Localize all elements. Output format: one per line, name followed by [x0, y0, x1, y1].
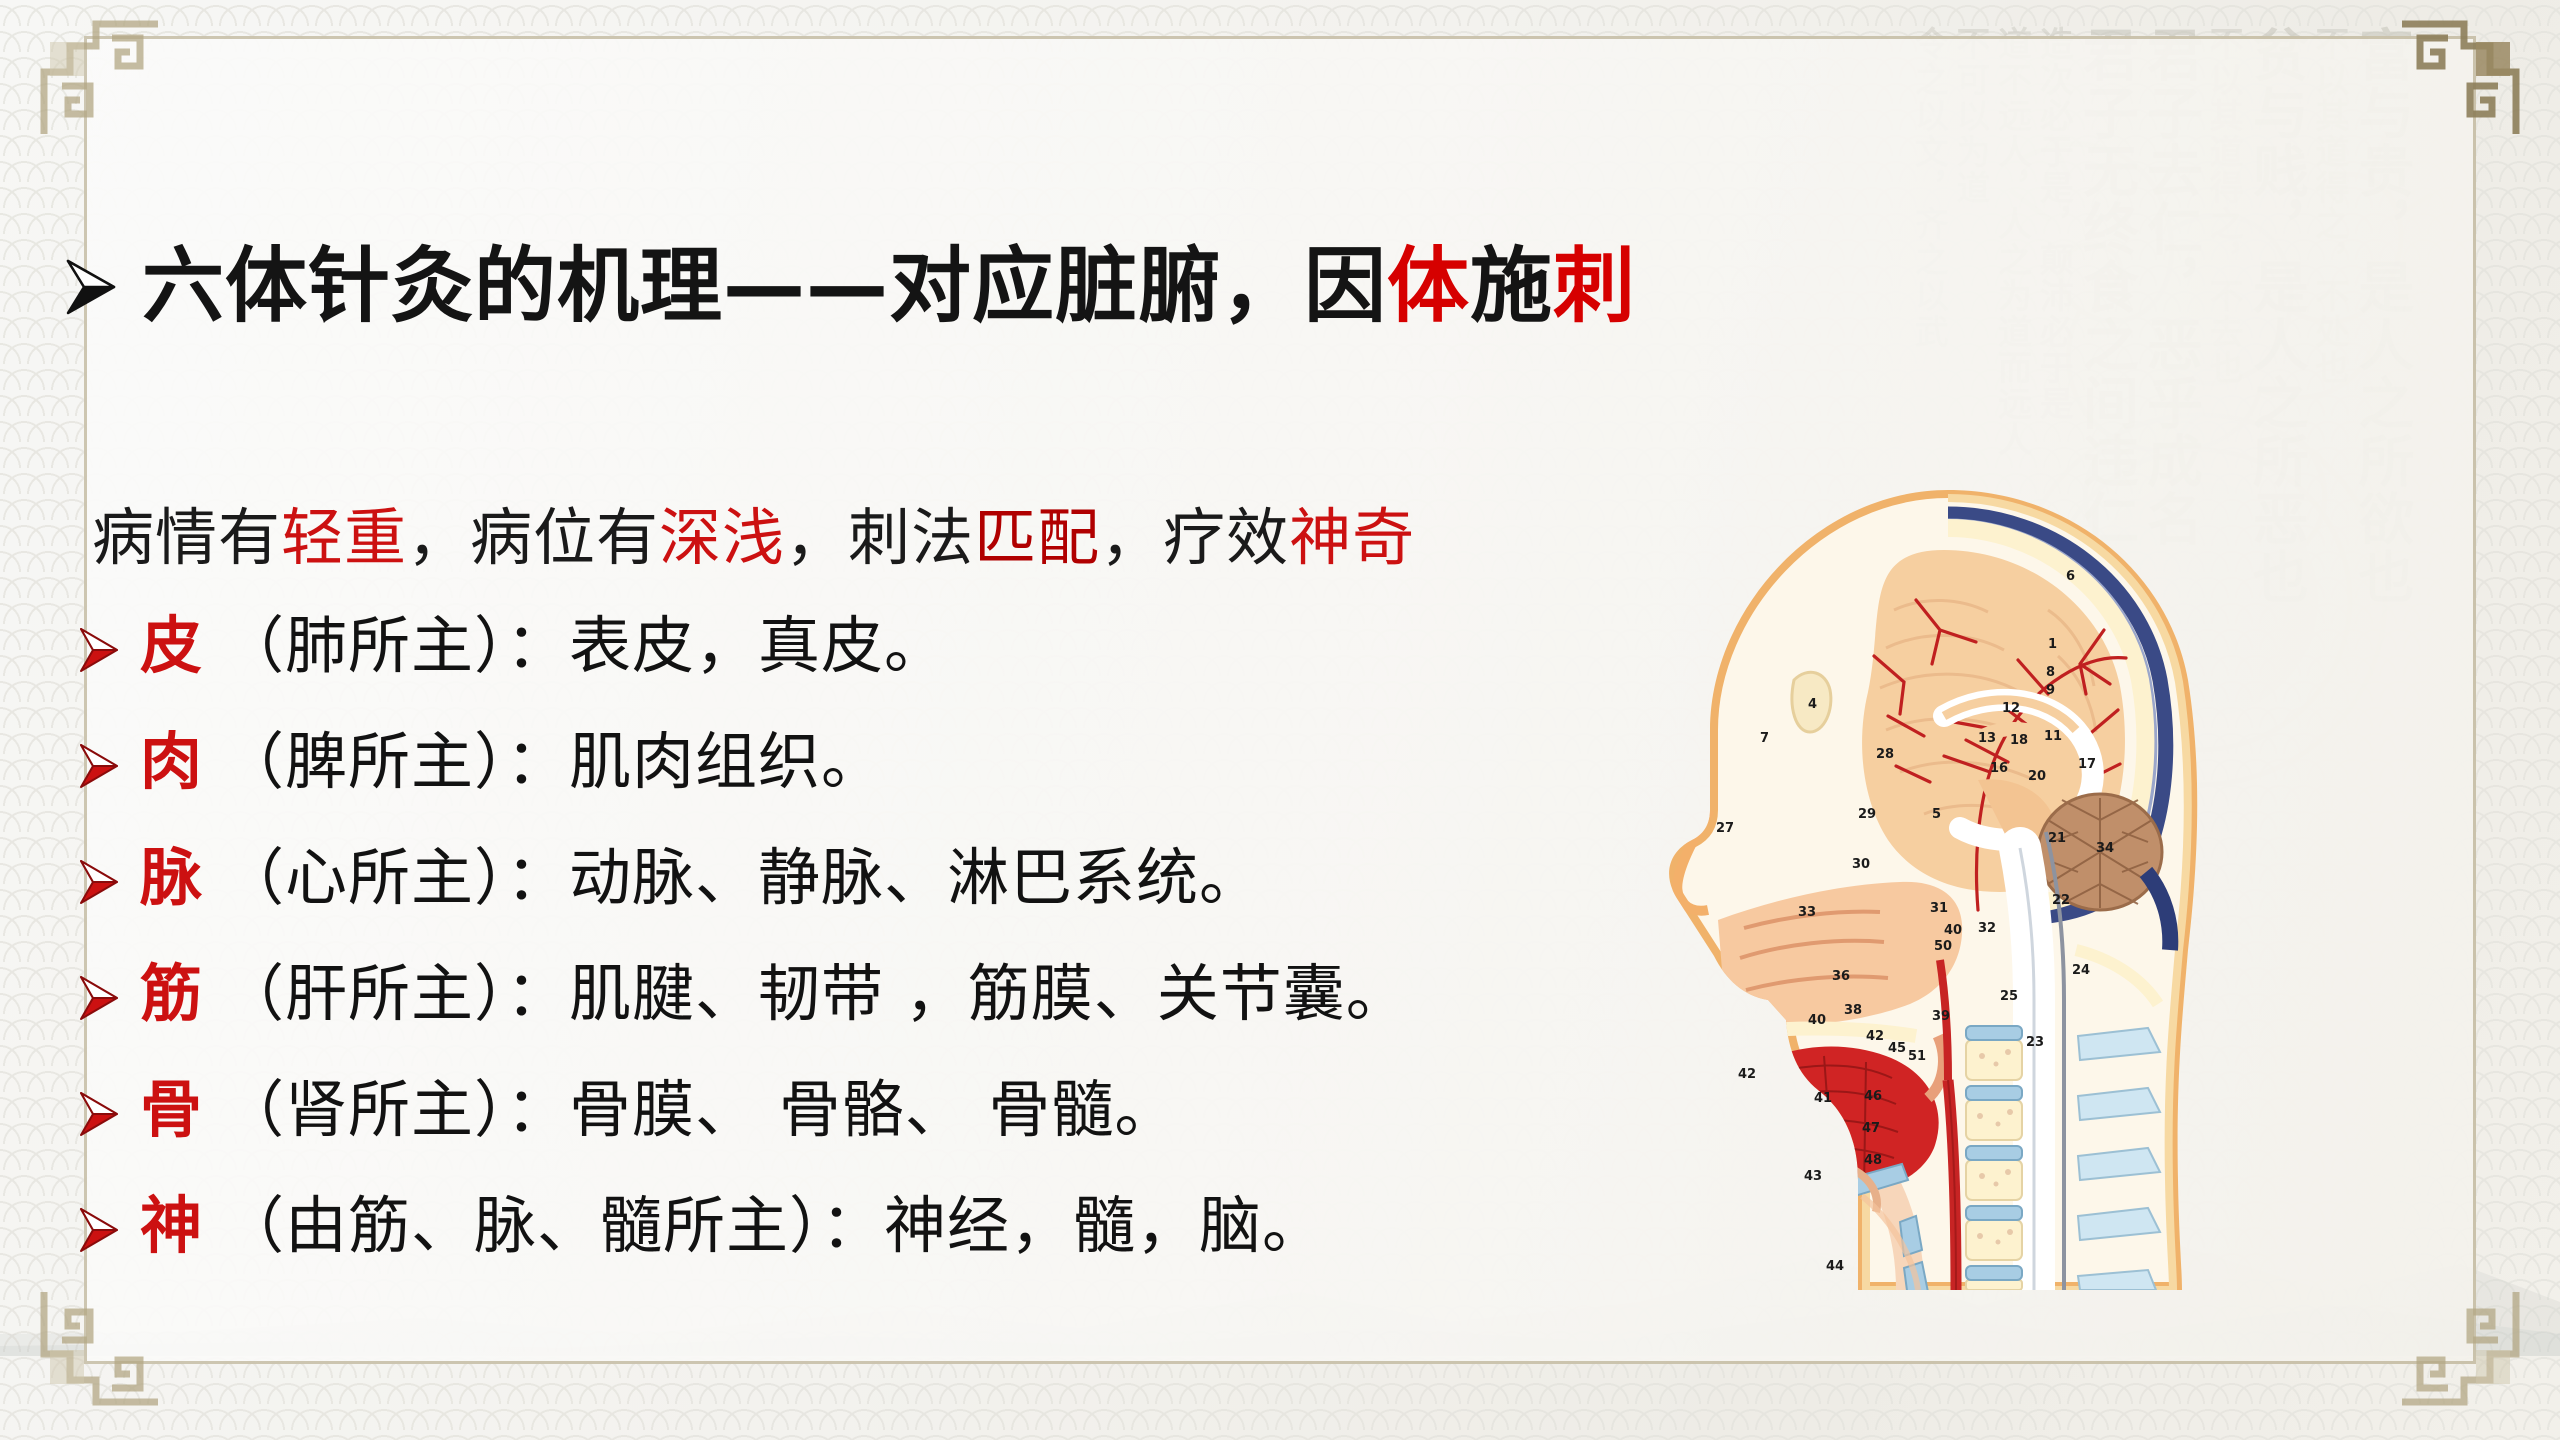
lead-line: 病情有轻重，病位有深浅，刺法匹配，疗效神奇: [92, 487, 1415, 577]
list-item-key: 神: [140, 1175, 202, 1265]
lead-highlight-1: 轻重: [281, 501, 407, 574]
list-item-text: （心所主）：动脉、静脉、淋巴系统。: [222, 827, 1262, 917]
arrow-bullet-icon: [76, 1090, 120, 1138]
svg-text:42: 42: [1738, 1067, 1756, 1082]
svg-text:24: 24: [2072, 963, 2090, 978]
title-highlight-1: 体: [1387, 239, 1470, 334]
svg-text:47: 47: [1862, 1121, 1880, 1136]
svg-text:32: 32: [1978, 921, 1996, 936]
svg-text:38: 38: [1844, 1003, 1862, 1018]
title-part-2: 施: [1470, 239, 1553, 334]
list-item[interactable]: 皮 （肺所主）：表皮，真皮。: [76, 595, 1409, 705]
slide-content: 六体针灸的机理——对应脏腑，因体施刺 病情有轻重，病位有深浅，刺法匹配，疗效神奇…: [0, 0, 2560, 1440]
svg-text:46: 46: [1864, 1089, 1882, 1104]
svg-text:48: 48: [1864, 1153, 1882, 1168]
lead-text-1: 病情有: [92, 501, 281, 574]
lead-highlight-4: 神奇: [1289, 501, 1415, 574]
list-item-key: 骨: [140, 1059, 202, 1149]
svg-text:8: 8: [2046, 665, 2055, 680]
svg-text:16: 16: [1990, 761, 2008, 776]
svg-text:42: 42: [1866, 1029, 1884, 1044]
svg-text:50: 50: [1934, 939, 1952, 954]
title-part-1: 六体针灸的机理——对应脏腑，因: [142, 239, 1387, 334]
list-item[interactable]: 筋 （肝所主）：肌腱、韧带 ，筋膜、关节囊。: [76, 943, 1409, 1053]
svg-text:12: 12: [2002, 701, 2020, 716]
svg-text:20: 20: [2028, 769, 2046, 784]
lead-text-4: ，疗效: [1100, 501, 1289, 574]
svg-text:29: 29: [1858, 807, 1876, 822]
list-item-key: 筋: [140, 943, 202, 1033]
svg-text:21: 21: [2048, 831, 2066, 846]
svg-text:7: 7: [1760, 731, 1769, 746]
svg-text:40: 40: [1808, 1013, 1826, 1028]
svg-text:45: 45: [1888, 1041, 1906, 1056]
list-item-text: （由筋、脉、髓所主）：神经，髓，脑。: [222, 1175, 1325, 1265]
lead-highlight-2: 深浅: [659, 501, 785, 574]
svg-text:51: 51: [1908, 1049, 1926, 1064]
page-title-text: 六体针灸的机理——对应脏腑，因体施刺: [142, 246, 1636, 328]
page-title: 六体针灸的机理——对应脏腑，因体施刺: [62, 246, 1636, 328]
svg-text:40: 40: [1944, 923, 1962, 938]
lead-highlight-3: 匹配: [974, 501, 1100, 574]
title-highlight-2: 刺: [1553, 239, 1636, 334]
svg-text:5: 5: [1932, 807, 1941, 822]
svg-text:28: 28: [1876, 747, 1894, 762]
list-item-key: 脉: [140, 827, 202, 917]
lead-text-2: ，病位有: [407, 501, 659, 574]
svg-text:1: 1: [2048, 637, 2057, 652]
svg-text:36: 36: [1832, 969, 1850, 984]
list-item[interactable]: 肉 （脾所主）：肌肉组织。: [76, 711, 1409, 821]
svg-text:30: 30: [1852, 857, 1870, 872]
arrow-bullet-icon: [76, 1206, 120, 1254]
svg-text:17: 17: [2078, 757, 2096, 772]
slide-canvas: 富与贵，是人之所欲也 不以其道得之，不处也 贫与贱，是人之所恶也 不以其道得之，…: [0, 0, 2560, 1440]
arrow-bullet-icon: [76, 858, 120, 906]
list-item[interactable]: 神 （由筋、脉、髓所主）：神经，髓，脑。: [76, 1175, 1409, 1285]
svg-text:27: 27: [1716, 821, 1734, 836]
list-item-key: 肉: [140, 711, 202, 801]
svg-text:13: 13: [1978, 731, 1996, 746]
svg-text:23: 23: [2026, 1035, 2044, 1050]
list-item-text: （肺所主）：表皮，真皮。: [222, 595, 947, 685]
arrow-bullet-icon: [76, 626, 120, 674]
svg-text:6: 6: [2066, 569, 2075, 584]
svg-text:4: 4: [1808, 697, 1817, 712]
svg-text:34: 34: [2096, 841, 2114, 856]
list-item[interactable]: 脉 （心所主）：动脉、静脉、淋巴系统。: [76, 827, 1409, 937]
list-item-text: （肾所主）：骨膜、 骨骼、 骨髓。: [222, 1059, 1177, 1149]
list-item-key: 皮: [140, 595, 202, 685]
anatomy-illustration: 6 1 8 9 12 13 18 11 16 17 20 21 34 22 24…: [1648, 480, 2208, 1290]
svg-text:22: 22: [2052, 893, 2070, 908]
svg-text:41: 41: [1814, 1091, 1832, 1106]
arrow-bullet-icon: [76, 742, 120, 790]
list-item-text: （脾所主）：肌肉组织。: [222, 711, 884, 801]
svg-text:44: 44: [1826, 1259, 1844, 1274]
svg-text:39: 39: [1932, 1009, 1950, 1024]
svg-text:33: 33: [1798, 905, 1816, 920]
svg-text:43: 43: [1804, 1169, 1822, 1184]
arrow-bullet-icon: [62, 257, 118, 317]
svg-text:11: 11: [2044, 729, 2062, 744]
svg-text:31: 31: [1930, 901, 1948, 916]
arrow-bullet-icon: [76, 974, 120, 1022]
list-item-text: （肝所主）：肌腱、韧带 ，筋膜、关节囊。: [222, 943, 1409, 1033]
svg-text:18: 18: [2010, 733, 2028, 748]
bullet-list: 皮 （肺所主）：表皮，真皮。 肉 （脾所主）：肌肉组织。 脉 （心所主）：动脉、…: [76, 595, 1409, 1285]
list-item[interactable]: 骨 （肾所主）：骨膜、 骨骼、 骨髓。: [76, 1059, 1409, 1169]
svg-text:9: 9: [2046, 683, 2055, 698]
svg-text:25: 25: [2000, 989, 2018, 1004]
lead-text-3: ，刺法: [785, 501, 974, 574]
